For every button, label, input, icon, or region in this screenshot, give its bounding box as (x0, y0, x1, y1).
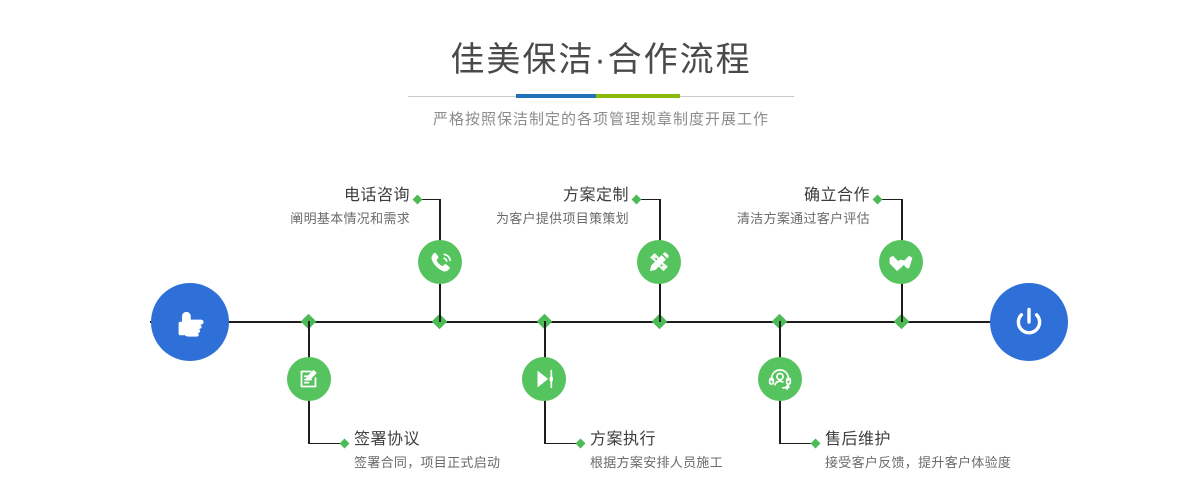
step-desc-5: 清洁方案通过客户评估 (632, 209, 870, 228)
handshake-icon (886, 247, 916, 277)
title-divider (408, 94, 794, 98)
page-subtitle: 严格按照保洁制定的各项管理规章制度开展工作 (0, 108, 1202, 129)
timeline-start-node[interactable] (151, 283, 229, 361)
step-label-6: 售后维护 接受客户反馈，提升客户体验度 (825, 430, 1105, 472)
step-label-3: 方案定制 为客户提供项目策策划 (390, 186, 629, 228)
step-title-2: 签署协议 (354, 430, 614, 450)
step-label-2: 签署协议 签署合同，项目正式启动 (354, 430, 614, 472)
step-label-4: 方案执行 根据方案安排人员施工 (590, 430, 850, 472)
page-header: 佳美保洁·合作流程 严格按照保洁制定的各项管理规章制度开展工作 (0, 0, 1202, 129)
divider-green-segment (596, 94, 680, 98)
timeline-end-node[interactable] (990, 283, 1068, 361)
phone-call-icon (426, 248, 454, 276)
play-execute-icon (530, 365, 558, 393)
step-desc-3: 为客户提供项目策策划 (390, 209, 629, 228)
step-title-1: 电话咨询 (158, 186, 410, 206)
step-title-4: 方案执行 (590, 430, 850, 450)
step-title-5: 确立合作 (632, 186, 870, 206)
step-desc-2: 签署合同，项目正式启动 (354, 453, 614, 472)
page-title: 佳美保洁·合作流程 (0, 38, 1202, 82)
flow-diagram-page: 佳美保洁·合作流程 严格按照保洁制定的各项管理规章制度开展工作 (0, 0, 1202, 502)
step-node-3[interactable] (637, 240, 681, 284)
step-desc-1: 阐明基本情况和需求 (158, 209, 410, 228)
step-title-6: 售后维护 (825, 430, 1105, 450)
step-desc-4: 根据方案安排人员施工 (590, 453, 850, 472)
step-title-3: 方案定制 (390, 186, 629, 206)
step-label-5: 确立合作 清洁方案通过客户评估 (632, 186, 870, 228)
customer-service-icon (766, 365, 794, 393)
step-node-4[interactable] (522, 357, 566, 401)
step-desc-6: 接受客户反馈，提升客户体验度 (825, 453, 1105, 472)
hand-pointing-icon (168, 300, 212, 344)
step-label-1: 电话咨询 阐明基本情况和需求 (158, 186, 410, 228)
step-node-2[interactable] (287, 357, 331, 401)
pencil-ruler-icon (645, 248, 673, 276)
document-sign-icon (295, 365, 323, 393)
step-node-5[interactable] (879, 240, 923, 284)
timeline-axis (150, 321, 1052, 323)
step-node-6[interactable] (758, 357, 802, 401)
power-icon (1007, 300, 1051, 344)
step-node-1[interactable] (418, 240, 462, 284)
divider-blue-segment (516, 94, 596, 98)
